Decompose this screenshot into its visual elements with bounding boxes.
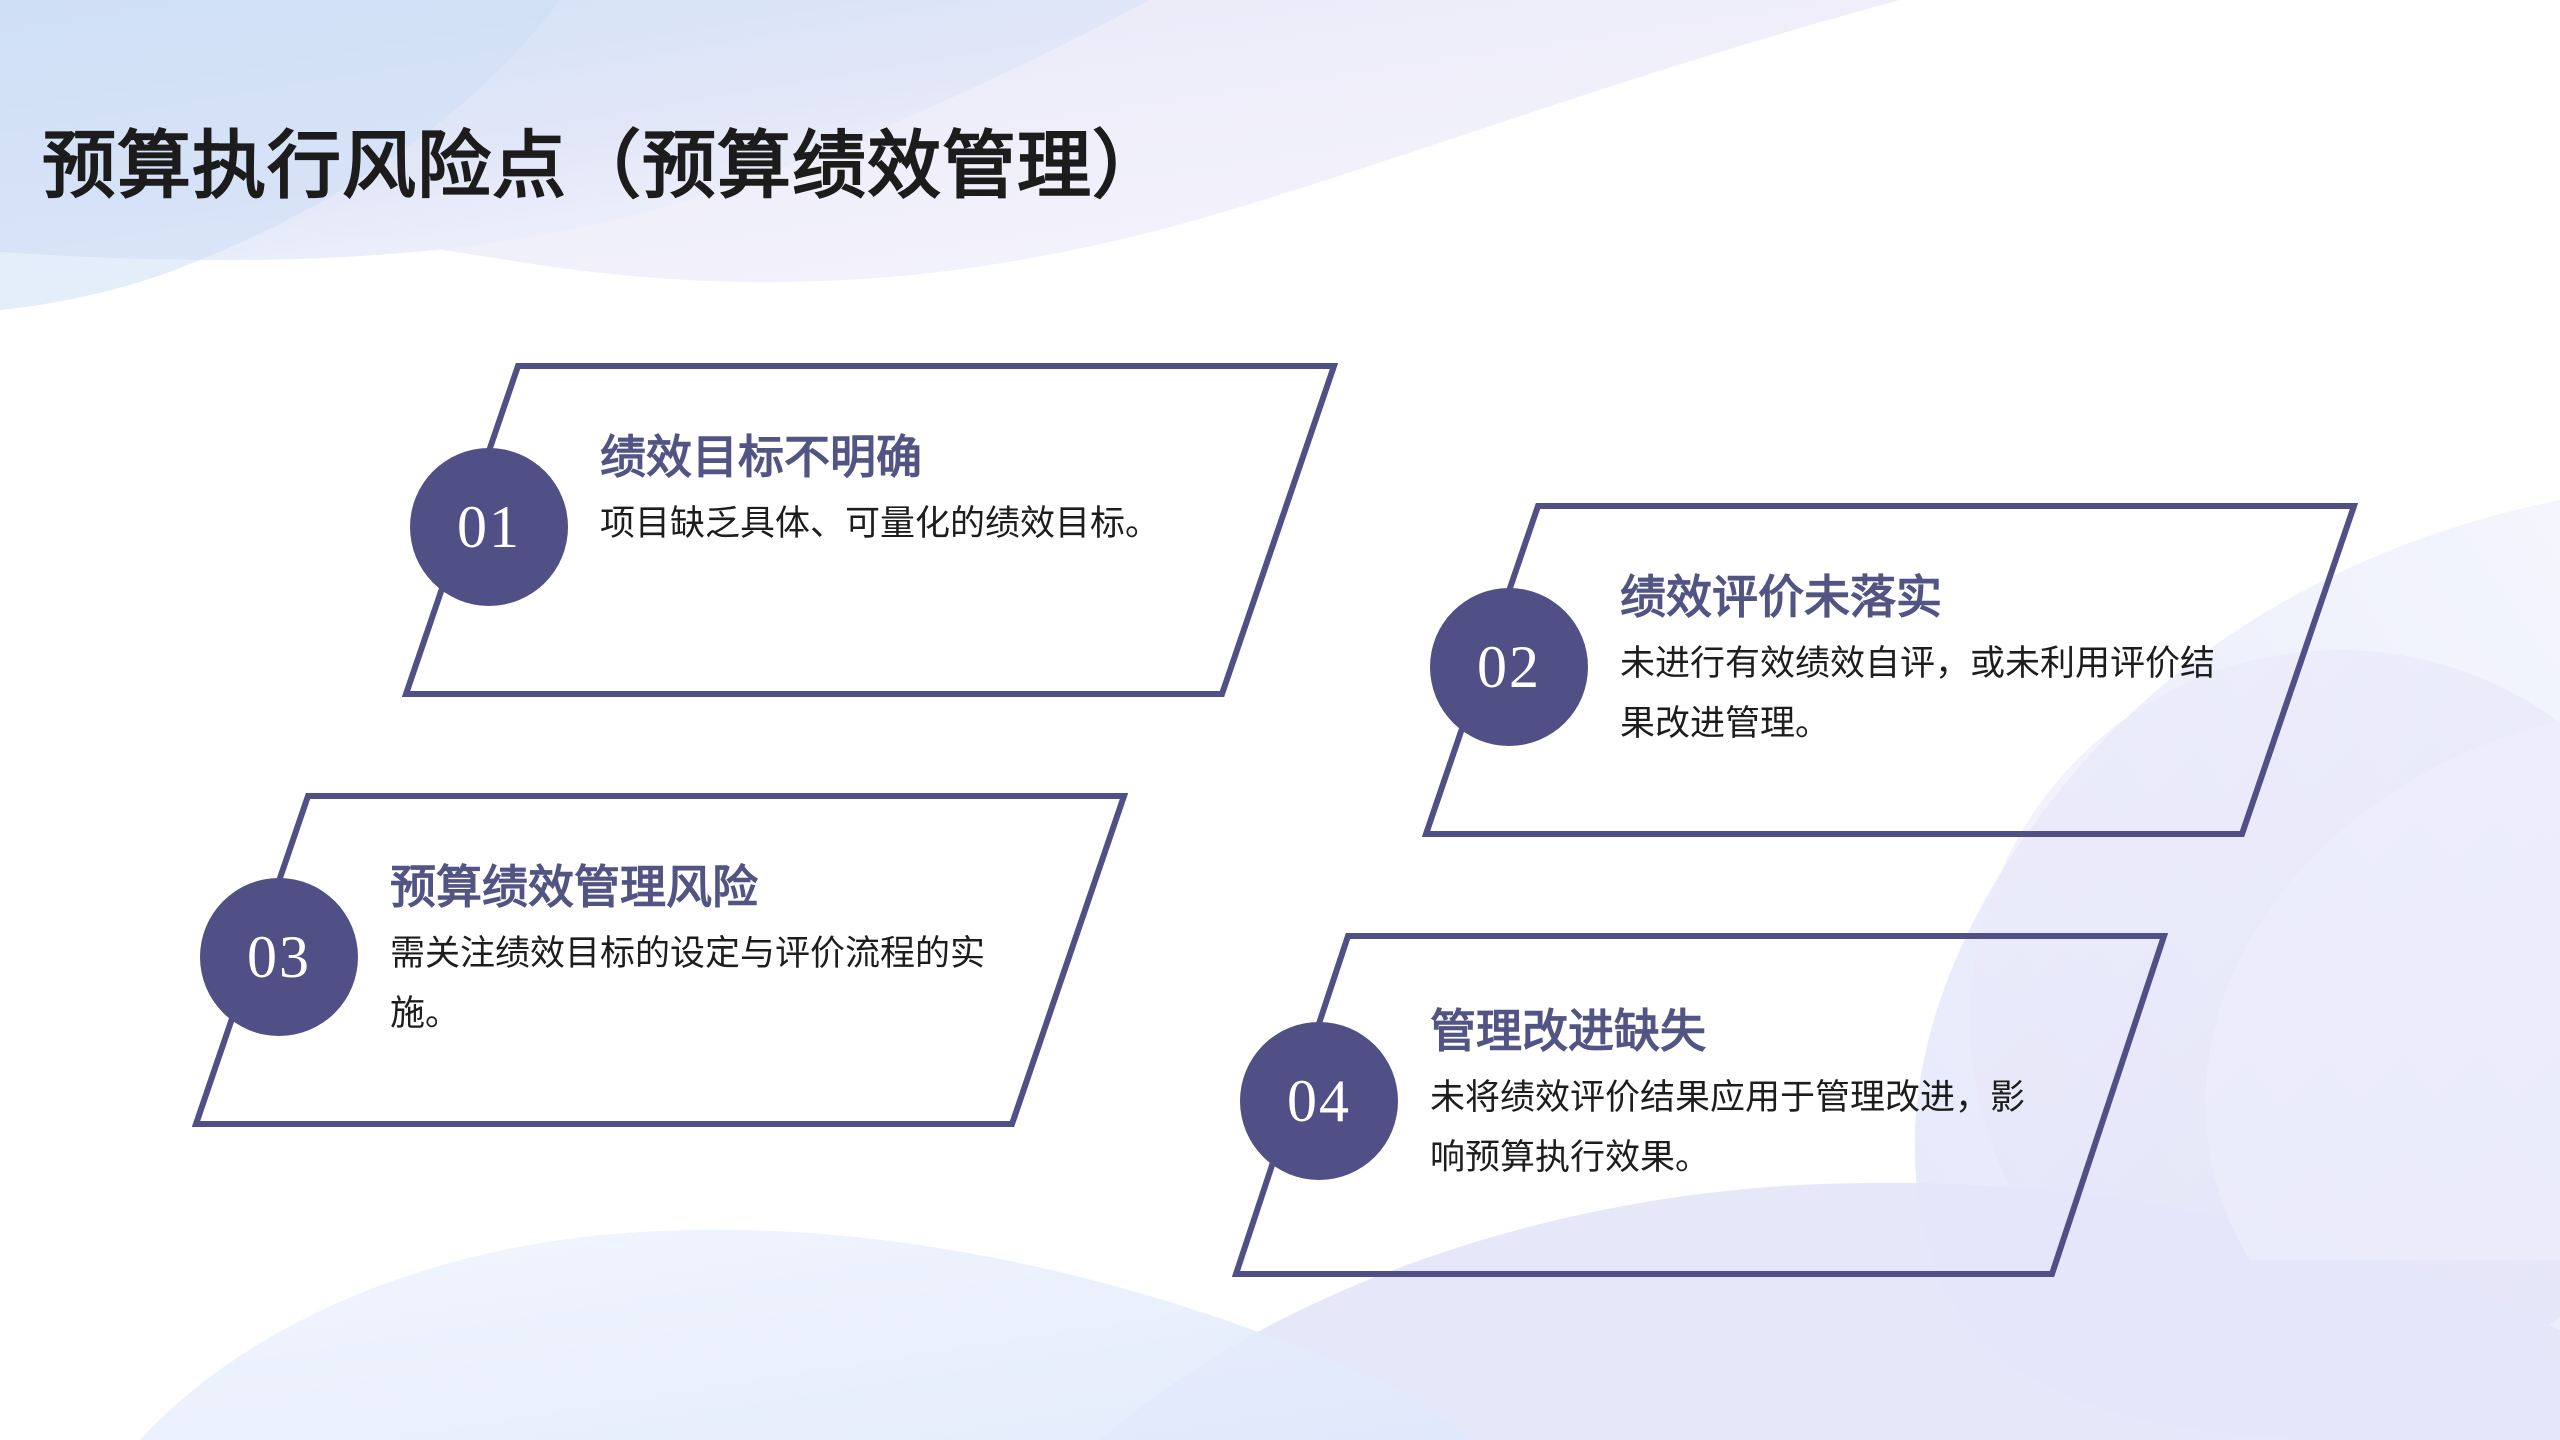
card-number-label: 03 [247,927,311,987]
card-body-text: 项目缺乏具体、可量化的绩效目标。 [600,494,1200,554]
card-body-text: 未进行有效绩效自评，或未利用评价结果改进管理。 [1620,634,2240,753]
card-heading: 管理改进缺失 [1430,1004,2050,1058]
slide-canvas: 预算执行风险点（预算绩效管理） 01 绩效目标不明确 项目缺乏具体、可量化的绩效… [0,0,2560,1440]
risk-card-02[interactable]: 02 绩效评价未落实 未进行有效绩效自评，或未利用评价结果改进管理。 [1420,500,2360,840]
card-number-label: 04 [1287,1071,1351,1131]
risk-card-04[interactable]: 04 管理改进缺失 未将绩效评价结果应用于管理改进，影响预算执行效果。 [1230,930,2170,1280]
card-text-block: 绩效目标不明确 项目缺乏具体、可量化的绩效目标。 [600,430,1200,554]
card-body-text: 需关注绩效目标的设定与评价流程的实施。 [390,924,1010,1043]
risk-card-01[interactable]: 01 绩效目标不明确 项目缺乏具体、可量化的绩效目标。 [400,360,1340,700]
card-heading: 绩效评价未落实 [1620,570,2240,624]
card-number-label: 02 [1477,637,1541,697]
card-number-label: 01 [457,497,521,557]
card-number-badge: 04 [1240,1022,1398,1180]
risk-card-03[interactable]: 03 预算绩效管理风险 需关注绩效目标的设定与评价流程的实施。 [190,790,1130,1130]
card-number-badge: 03 [200,878,358,1036]
card-heading: 绩效目标不明确 [600,430,1200,484]
card-number-badge: 01 [410,448,568,606]
card-text-block: 管理改进缺失 未将绩效评价结果应用于管理改进，影响预算执行效果。 [1430,1004,2050,1187]
card-text-block: 预算绩效管理风险 需关注绩效目标的设定与评价流程的实施。 [390,860,1010,1043]
card-heading: 预算绩效管理风险 [390,860,1010,914]
page-title: 预算执行风险点（预算绩效管理） [42,122,1167,211]
card-text-block: 绩效评价未落实 未进行有效绩效自评，或未利用评价结果改进管理。 [1620,570,2240,753]
card-body-text: 未将绩效评价结果应用于管理改进，影响预算执行效果。 [1430,1068,2050,1187]
card-number-badge: 02 [1430,588,1588,746]
